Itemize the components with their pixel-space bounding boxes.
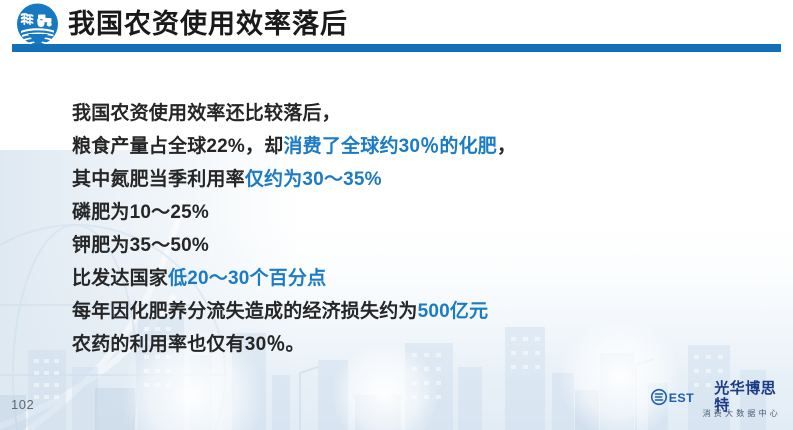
body-text-line: 比发达国家低20～30个百分点 xyxy=(72,262,692,295)
plain-text: 粮食产量占全球22%，却 xyxy=(72,136,283,157)
body-text-line: 我国农资使用效率还比较落后， xyxy=(72,97,692,130)
highlighted-text: 低20～30个百分点 xyxy=(168,268,326,289)
body-text-line: 钾肥为35～50% xyxy=(72,229,692,262)
highlighted-text: 仅约为30～35% xyxy=(245,169,382,190)
page-number: 102 xyxy=(11,397,34,412)
body-text-line: 磷肥为10～25% xyxy=(72,196,692,229)
body-text-line: 每年因化肥养分流失造成的经济损失约为500亿元 xyxy=(72,295,692,328)
body-text-line: 其中氮肥当季利用率仅约为30～35% xyxy=(72,163,692,196)
corporate-tagline: 消费大数据中心 xyxy=(651,408,783,419)
body-text-block: 我国农资使用效率还比较落后，粮食产量占全球22%，却消费了全球约30％的化肥，其… xyxy=(72,97,692,361)
highlighted-text: 消费了全球约30％的化肥 xyxy=(283,136,497,157)
svg-text:EST: EST xyxy=(669,390,694,404)
slide-canvas: 我国农资使用效率落后 我国农资使用效率还比较落后，粮食产量占全球22%，却消费了… xyxy=(0,0,793,430)
plain-text: 农药的利用率也仅有30％。 xyxy=(72,334,305,355)
highlighted-text: 500亿元 xyxy=(418,301,489,322)
page-title: 我国农资使用效率落后 xyxy=(68,6,348,42)
plain-text: 我国农资使用效率还比较落后， xyxy=(72,103,341,124)
body-text-line: 农药的利用率也仅有30％。 xyxy=(72,328,692,361)
plain-text: 钾肥为35～50% xyxy=(72,235,209,256)
best-wordmark-icon: EST xyxy=(651,387,711,407)
plain-text: 比发达国家 xyxy=(72,268,168,289)
header-divider-bar xyxy=(12,44,781,52)
corporate-logo: EST 光华博思特 消费大数据中心 xyxy=(651,386,783,422)
plain-text: ， xyxy=(497,136,516,157)
plain-text: 磷肥为10～25% xyxy=(72,202,209,223)
body-text-line: 粮食产量占全球22%，却消费了全球约30％的化肥， xyxy=(72,130,692,163)
slide-header: 我国农资使用效率落后 xyxy=(0,0,793,56)
plain-text: 每年因化肥养分流失造成的经济损失约为 xyxy=(72,301,418,322)
plain-text: 其中氮肥当季利用率 xyxy=(72,169,245,190)
